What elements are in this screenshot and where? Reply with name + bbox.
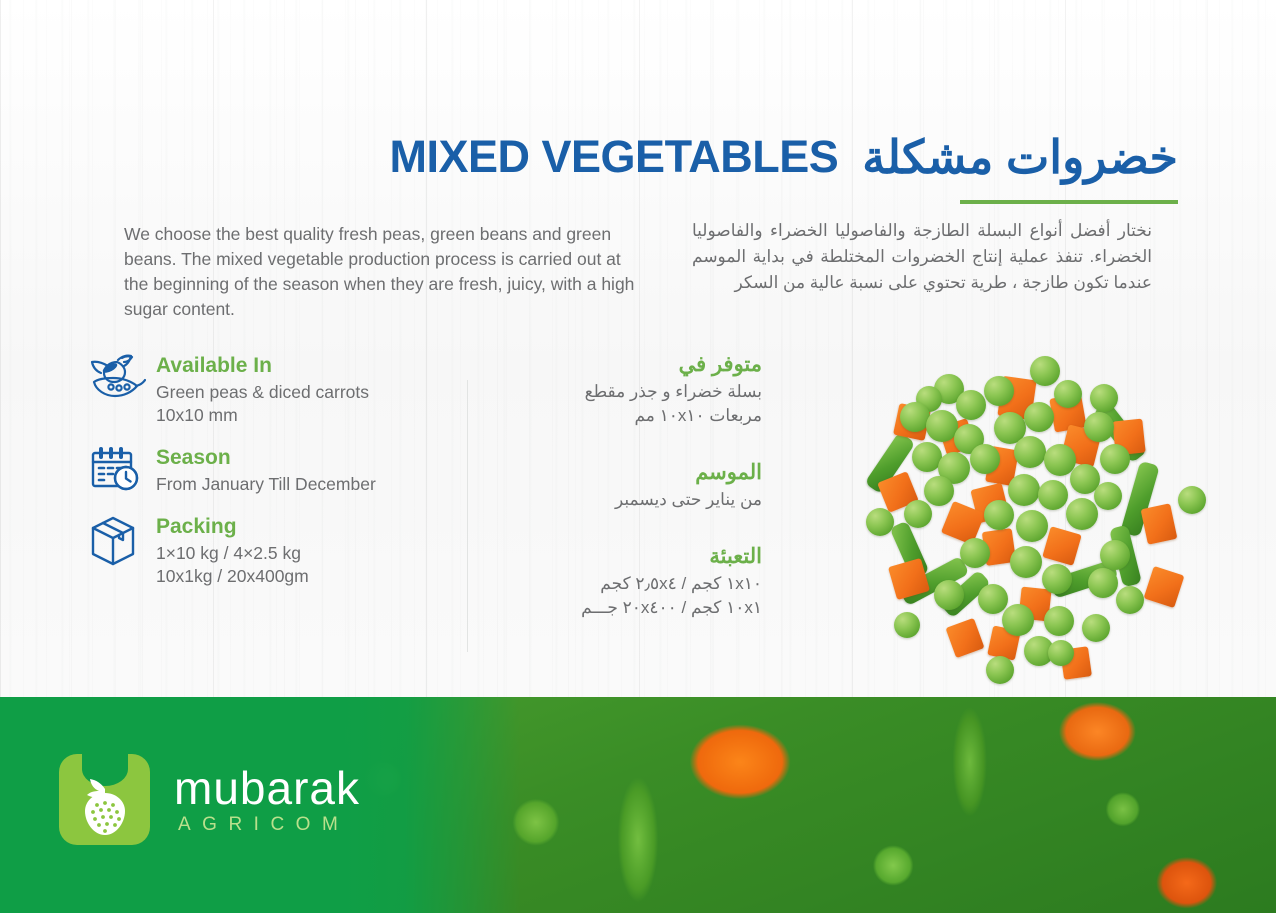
product-photo bbox=[838, 340, 1228, 690]
spec-title-packing: Packing bbox=[156, 515, 309, 539]
spec-line-season-1: From January Till December bbox=[156, 473, 376, 496]
spec-text-available-in: Available In Green peas & diced carrots … bbox=[156, 352, 369, 427]
intro-text-english: We choose the best quality fresh peas, g… bbox=[124, 222, 649, 322]
spec-line-packing-arabic-2: ١٠x١ كجم / ٢٠x٤٠٠ جـــم bbox=[500, 596, 762, 620]
spec-item-season: Season From January Till December bbox=[88, 444, 458, 496]
column-divider bbox=[467, 380, 468, 652]
spec-item-available-in: Available In Green peas & diced carrots … bbox=[88, 352, 458, 427]
intro-paragraph-english: We choose the best quality fresh peas, g… bbox=[124, 222, 649, 322]
spec-line-packing-1: 1×10 kg / 4×2.5 kg bbox=[156, 542, 309, 565]
title-underline bbox=[960, 200, 1178, 204]
spec-item-available-in-arabic: متوفر في بسلة خضراء و جذر مقطع مربعات ١٠… bbox=[500, 352, 762, 428]
spec-title-packing-arabic: التعبئة bbox=[500, 544, 762, 570]
page-title-english: MIXED VEGETABLES bbox=[390, 131, 839, 183]
spec-item-packing: Packing 1×10 kg / 4×2.5 kg 10x1kg / 20x4… bbox=[88, 513, 458, 588]
box-icon bbox=[88, 513, 156, 567]
brand-name: mubarak bbox=[174, 765, 360, 811]
spec-title-available-in: Available In bbox=[156, 354, 369, 378]
spec-title-available-in-arabic: متوفر في bbox=[500, 352, 762, 378]
strawberry-icon bbox=[78, 775, 132, 837]
brand-subtitle: AGRICOM bbox=[174, 811, 360, 839]
spec-line-available-in-1: Green peas & diced carrots bbox=[156, 381, 369, 404]
spec-line-available-in-2: 10x10 mm bbox=[156, 404, 369, 427]
spec-line-season-arabic-1: من يناير حتى ديسمبر bbox=[500, 488, 762, 512]
spec-text-packing: Packing 1×10 kg / 4×2.5 kg 10x1kg / 20x4… bbox=[156, 513, 309, 588]
spec-line-packing-arabic-1: ١x١٠ كجم / ٢٫٥x٤ كجم bbox=[500, 572, 762, 596]
vegetable-icon bbox=[88, 352, 156, 404]
spec-line-available-in-arabic-2: مربعات ١٠x١٠ مم bbox=[500, 404, 762, 428]
specs-list-english: Available In Green peas & diced carrots … bbox=[88, 352, 458, 605]
calendar-clock-icon bbox=[88, 444, 156, 496]
spec-line-available-in-arabic-1: بسلة خضراء و جذر مقطع bbox=[500, 380, 762, 404]
spec-text-season: Season From January Till December bbox=[156, 444, 376, 496]
page-title-arabic: خضروات مشكلة bbox=[862, 130, 1178, 184]
spec-item-season-arabic: الموسم من يناير حتى ديسمبر bbox=[500, 460, 762, 512]
product-sheet-page: MIXED VEGETABLES خضروات مشكلة We choose … bbox=[0, 0, 1276, 913]
spec-line-packing-2: 10x1kg / 20x400gm bbox=[156, 565, 309, 588]
intro-text-arabic: نختار أفضل أنواع البسلة الطازجة والفاصول… bbox=[692, 218, 1152, 296]
logo-badge bbox=[59, 754, 150, 845]
spec-title-season-arabic: الموسم bbox=[500, 460, 762, 486]
specs-list-arabic: متوفر في بسلة خضراء و جذر مقطع مربعات ١٠… bbox=[500, 352, 762, 652]
intro-paragraph-arabic: نختار أفضل أنواع البسلة الطازجة والفاصول… bbox=[692, 218, 1152, 296]
brand-logo[interactable]: mubarak AGRICOM bbox=[59, 754, 360, 845]
spec-title-season: Season bbox=[156, 446, 376, 470]
title-row: MIXED VEGETABLES خضروات مشكلة bbox=[0, 126, 1276, 188]
logo-text: mubarak AGRICOM bbox=[174, 761, 360, 839]
spec-item-packing-arabic: التعبئة ١x١٠ كجم / ٢٫٥x٤ كجم ١٠x١ كجم / … bbox=[500, 544, 762, 620]
